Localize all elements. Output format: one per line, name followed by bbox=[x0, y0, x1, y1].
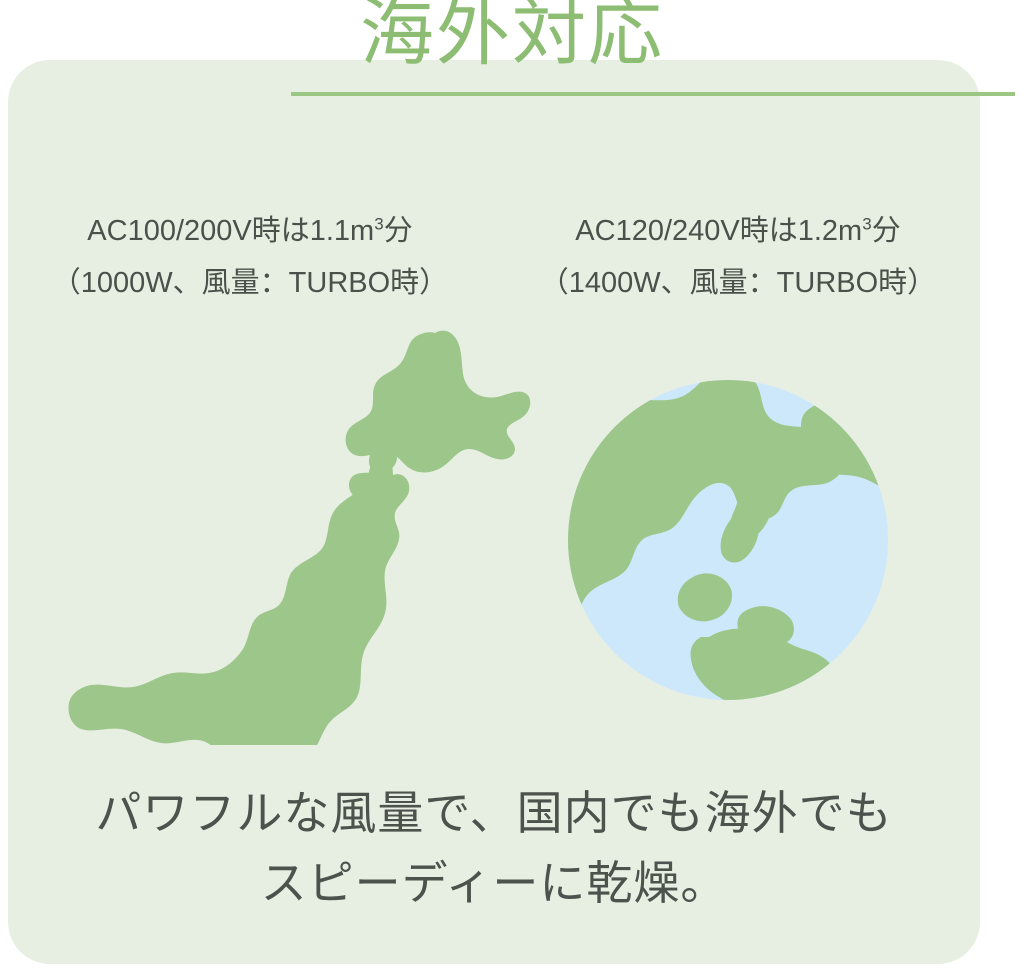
globe-icon bbox=[563, 375, 893, 705]
spec-ac120-240v-unit-suffix: 分 bbox=[872, 215, 901, 247]
bottom-caption: パワフルな風量で、国内でも海外でも スピーディーに乾燥。 bbox=[8, 778, 980, 918]
spec-ac100-200v-value: AC100/200V時は1.1m bbox=[87, 215, 374, 247]
spec-ac100-200v-unit-suffix: 分 bbox=[384, 215, 413, 247]
cubic-meter-superscript: 3 bbox=[862, 214, 871, 233]
spec-ac100-200v-line2: （1000W、風量：TURBO時） bbox=[30, 257, 470, 309]
caption-line-1: パワフルな風量で、国内でも海外でも bbox=[8, 778, 980, 848]
title-underline-rule bbox=[291, 92, 1015, 96]
cubic-meter-superscript: 3 bbox=[374, 214, 383, 233]
illustration-area bbox=[8, 325, 980, 745]
spec-ac120-240v: AC120/240V時は1.2m3分 （1400W、風量：TURBO時） bbox=[518, 205, 958, 309]
spec-row: AC100/200V時は1.1m3分 （1000W、風量：TURBO時） AC1… bbox=[8, 205, 980, 309]
infographic-stage: 海外対応 AC100/200V時は1.1m3分 （1000W、風量：TURBO時… bbox=[0, 0, 1024, 979]
spec-ac100-200v: AC100/200V時は1.1m3分 （1000W、風量：TURBO時） bbox=[30, 205, 470, 309]
spec-ac120-240v-line1: AC120/240V時は1.2m3分 bbox=[518, 205, 958, 257]
spec-ac120-240v-value: AC120/240V時は1.2m bbox=[575, 215, 862, 247]
spec-ac120-240v-line2: （1400W、風量：TURBO時） bbox=[518, 257, 958, 309]
japan-map-icon bbox=[63, 325, 533, 745]
page-title: 海外対応 bbox=[0, 0, 1024, 74]
spec-ac100-200v-line1: AC100/200V時は1.1m3分 bbox=[30, 205, 470, 257]
caption-line-2: スピーディーに乾燥。 bbox=[8, 848, 980, 918]
